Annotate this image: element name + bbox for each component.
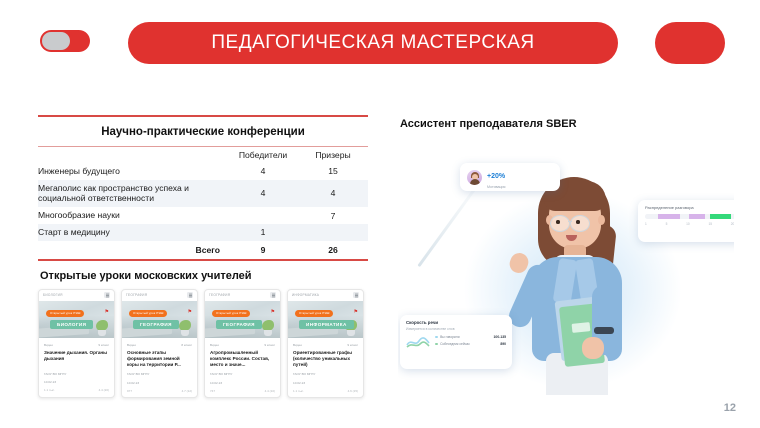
speech-speed-title: Скорость речи [406, 320, 506, 325]
slide: ПЕДАГОГИЧЕСКАЯ МАСТЕРСКАЯ Научно-практич… [0, 0, 760, 428]
flag-icon: ⚑ [354, 309, 358, 315]
card-meta: Видео 9 класс [44, 343, 109, 347]
speed-row-label: Вы говорили [440, 335, 459, 339]
card-subject-label: ИНФОРМАТИКА [292, 293, 319, 297]
speed-row-value: 100-135 [494, 335, 506, 339]
card-media-type: Видео [210, 343, 219, 347]
header-title-bar: ПЕДАГОГИЧЕСКАЯ МАСТЕРСКАЯ [128, 22, 618, 64]
card-title: Агропромышленный комплекс России. Состав… [210, 350, 275, 369]
row-winners: 1 [228, 224, 298, 241]
card-title: Ориентированные графы (количество уникал… [293, 350, 358, 369]
card-subject-label: ГЕОГРАФИЯ [126, 293, 147, 297]
card-media-type: Видео [293, 343, 302, 347]
card-header: БИОЛОГИЯ [39, 290, 114, 301]
card-subject-chip: БИОЛОГИЯ [50, 320, 93, 329]
card-body: Видео 8 класс Основные этапы формировани… [122, 338, 197, 397]
card-media-type: Видео [44, 343, 53, 347]
toggle-knob-icon [42, 32, 70, 50]
open-lessons-title: Открытые уроки московских учителей [40, 270, 368, 282]
flag-icon: ⚑ [188, 309, 192, 315]
axis-tick: 1 [645, 222, 647, 226]
table-header-row: Победители Призеры [38, 147, 368, 163]
list-item[interactable]: БИОЛОГИЯ Открытый урок РЭШ ⚑ БИОЛОГИЯ Ви… [38, 289, 115, 398]
card-header: ГЕОГРАФИЯ [205, 290, 280, 301]
teacher-figure-icon [516, 167, 636, 395]
table-row: Старт в медицину 1 [38, 224, 368, 241]
card-meta: Видео 9 класс [210, 343, 275, 347]
row-winners: 4 [228, 180, 298, 207]
card-meta: Видео 9 класс [293, 343, 358, 347]
conversation-distribution-card: Распределение разговора 1 5 10 15 20 мин [638, 200, 734, 242]
motivation-card: +20% Мотивация [460, 163, 560, 191]
axis-tick: 15 [708, 222, 712, 226]
card-rating: 4.6 (15) [348, 389, 358, 393]
card-thumbnail: Открытый урок РЭШ ⚑ БИОЛОГИЯ [39, 301, 114, 338]
distribution-bar [645, 214, 734, 219]
card-rating: 4.7 (12) [182, 389, 192, 393]
card-subject-label: БИОЛОГИЯ [43, 293, 63, 297]
card-views: 1.1 тыс. [44, 388, 55, 392]
card-badge: Открытый урок РЭШ [46, 310, 84, 317]
total-winners: 9 [228, 241, 298, 259]
distribution-title: Распределение разговора [645, 205, 734, 210]
table-row: Вы говорили 100-135 [435, 335, 506, 339]
slide-header: ПЕДАГОГИЧЕСКАЯ МАСТЕРСКАЯ [0, 22, 760, 64]
page-number: 12 [724, 402, 736, 414]
card-footer: 747 4.4 (10) [210, 389, 275, 393]
motivation-label: Мотивация [487, 185, 506, 189]
card-date: 10.02.23 [210, 381, 275, 386]
card-footer: 1.1 тыс. 4.4 (20) [44, 388, 109, 392]
card-author: ГАОУ ВО МГПУ [44, 372, 109, 377]
card-author: ГАОУ ВО МГПУ [127, 372, 192, 377]
row-prizewinners [298, 224, 368, 241]
left-column: Научно-практические конференции Победите… [38, 115, 368, 398]
conferences-title: Научно-практические конференции [38, 117, 368, 146]
flag-icon: ⚑ [271, 309, 275, 315]
card-title: Основные этапы формирования земной коры … [127, 350, 192, 369]
card-grade: 9 класс [264, 343, 275, 347]
card-badge: Открытый урок РЭШ [129, 310, 167, 317]
row-prizewinners: 7 [298, 207, 368, 224]
speech-speed-card: Скорость речи Измеряется в количестве сл… [400, 315, 512, 369]
card-thumbnail: Открытый урок РЭШ ⚑ ГЕОГРАФИЯ [122, 301, 197, 338]
card-views: 1.1 тыс. [293, 389, 304, 393]
card-footer: 1.1 тыс. 4.6 (15) [293, 389, 358, 393]
card-subject-chip: ГЕОГРАФИЯ [216, 320, 262, 329]
row-prizewinners: 15 [298, 163, 368, 180]
card-body: Видео 9 класс Агропромышленный комплекс … [205, 338, 280, 397]
speed-row-value: 890 [500, 342, 506, 346]
row-name: Инженеры будущего [38, 163, 228, 180]
axis-tick: 5 [666, 222, 668, 226]
motivation-percent: +20% [487, 173, 505, 180]
card-subject-chip: ИНФОРМАТИКА [299, 320, 354, 329]
card-grade: 9 класс [98, 343, 109, 347]
table-row: Инженеры будущего 4 15 [38, 163, 368, 180]
card-grade: 8 класс [181, 343, 192, 347]
conferences-table: Победители Призеры Инженеры будущего 4 1… [38, 147, 368, 259]
lesson-cards-list: БИОЛОГИЯ Открытый урок РЭШ ⚑ БИОЛОГИЯ Ви… [38, 289, 368, 398]
card-thumbnail: Открытый урок РЭШ ⚑ ГЕОГРАФИЯ [205, 301, 280, 338]
row-name: Мегаполис как пространство успеха и соци… [38, 180, 228, 207]
card-badge: Открытый урок РЭШ [295, 310, 333, 317]
card-views: 977 [127, 389, 132, 393]
card-header: ГЕОГРАФИЯ [122, 290, 197, 301]
row-prizewinners: 4 [298, 180, 368, 207]
row-name: Старт в медицину [38, 224, 228, 241]
card-subject-chip: ГЕОГРАФИЯ [133, 320, 179, 329]
list-item[interactable]: ИНФОРМАТИКА Открытый урок РЭШ ⚑ ИНФОРМАТ… [287, 289, 364, 398]
page-title: ПЕДАГОГИЧЕСКАЯ МАСТЕРСКАЯ [211, 32, 534, 54]
table-row: Собеседник сейчас 890 [435, 342, 506, 346]
card-views: 747 [210, 389, 215, 393]
card-subject-label: ГЕОГРАФИЯ [209, 293, 230, 297]
more-menu-icon[interactable] [353, 292, 359, 298]
row-winners [228, 207, 298, 224]
card-footer: 977 4.7 (12) [127, 389, 192, 393]
sber-section-title: Ассистент преподавателя SBER [400, 118, 730, 130]
card-date: 10.02.23 [293, 381, 358, 386]
card-meta: Видео 8 класс [127, 343, 192, 347]
col-header-winners: Победители [228, 147, 298, 163]
total-prizewinners: 26 [298, 241, 368, 259]
card-grade: 9 класс [347, 343, 358, 347]
table-row: Многообразие науки 7 [38, 207, 368, 224]
speech-speed-subtitle: Измеряется в количестве слов [406, 327, 506, 331]
more-menu-icon[interactable] [104, 292, 110, 298]
card-rating: 4.4 (20) [99, 388, 109, 392]
distribution-axis: 1 5 10 15 20 мин [645, 222, 734, 226]
axis-tick: 10 [686, 222, 690, 226]
card-title: Значение дыхания. Органы дыхания [44, 350, 109, 368]
header-accent-pill [655, 22, 725, 64]
col-header-name [38, 147, 228, 163]
card-body: Видео 9 класс Значение дыхания. Органы д… [39, 338, 114, 396]
card-body: Видео 9 класс Ориентированные графы (кол… [288, 338, 363, 397]
card-author: ГАОУ ВО МГПУ [293, 372, 358, 377]
header-toggle-pill[interactable] [40, 30, 90, 52]
card-rating: 4.4 (10) [265, 389, 275, 393]
card-author: ГАОУ ВО МГПУ [210, 372, 275, 377]
card-media-type: Видео [127, 343, 136, 347]
sparkline-icon [406, 335, 430, 349]
more-menu-icon[interactable] [270, 292, 276, 298]
list-item[interactable]: ГЕОГРАФИЯ Открытый урок РЭШ ⚑ ГЕОГРАФИЯ … [204, 289, 281, 398]
table-row: Мегаполис как пространство успеха и соци… [38, 180, 368, 207]
list-item[interactable]: ГЕОГРАФИЯ Открытый урок РЭШ ⚑ ГЕОГРАФИЯ … [121, 289, 198, 398]
card-badge: Открытый урок РЭШ [212, 310, 250, 317]
card-date: 10.02.23 [44, 380, 109, 385]
row-name: Многообразие науки [38, 207, 228, 224]
card-date: 10.02.23 [127, 381, 192, 386]
card-thumbnail: Открытый урок РЭШ ⚑ ИНФОРМАТИКА [288, 301, 363, 338]
flag-icon: ⚑ [105, 309, 109, 315]
divider-table-bottom [38, 259, 368, 261]
table-total-row: Всего 9 26 [38, 241, 368, 259]
card-header: ИНФОРМАТИКА [288, 290, 363, 301]
total-label: Всего [38, 241, 228, 259]
right-column: Ассистент преподавателя SBER [400, 118, 730, 130]
sber-illustration: +20% Мотивация Распределение разговора 1… [398, 145, 734, 395]
axis-tick: 20 мин [731, 222, 734, 226]
speed-row-label: Собеседник сейчас [440, 342, 470, 346]
avatar [467, 170, 482, 185]
col-header-prizewinners: Призеры [298, 147, 368, 163]
row-winners: 4 [228, 163, 298, 180]
more-menu-icon[interactable] [187, 292, 193, 298]
